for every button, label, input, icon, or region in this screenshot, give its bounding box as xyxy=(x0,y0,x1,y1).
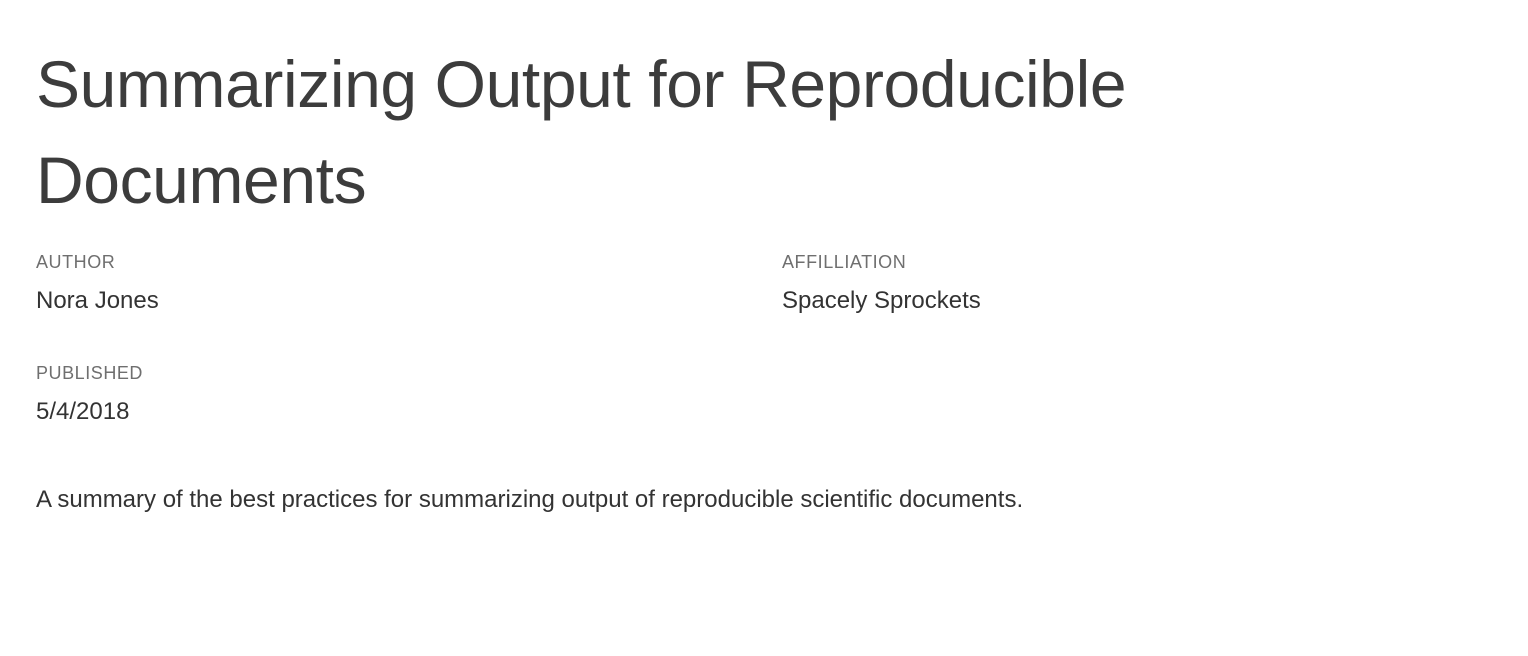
metadata-value-author: Nora Jones xyxy=(36,286,782,316)
metadata-label-author: AUTHOR xyxy=(36,250,782,274)
document-title-block: Summarizing Output for Reproducible Docu… xyxy=(0,0,1528,656)
metadata-field-published: PUBLISHED 5/4/2018 xyxy=(36,361,782,427)
document-abstract: A summary of the best practices for summ… xyxy=(36,483,1436,517)
metadata-label-published: PUBLISHED xyxy=(36,361,782,385)
metadata-field-affilliation: AFFILLIATION Spacely Sprockets xyxy=(782,250,1492,316)
document-metadata-grid: AUTHOR Nora Jones AFFILLIATION Spacely S… xyxy=(36,250,1492,427)
metadata-value-affilliation: Spacely Sprockets xyxy=(782,286,1492,316)
metadata-value-published: 5/4/2018 xyxy=(36,397,782,427)
metadata-label-affilliation: AFFILLIATION xyxy=(782,250,1492,274)
metadata-field-author: AUTHOR Nora Jones xyxy=(36,250,782,316)
page-title: Summarizing Output for Reproducible Docu… xyxy=(36,36,1326,228)
